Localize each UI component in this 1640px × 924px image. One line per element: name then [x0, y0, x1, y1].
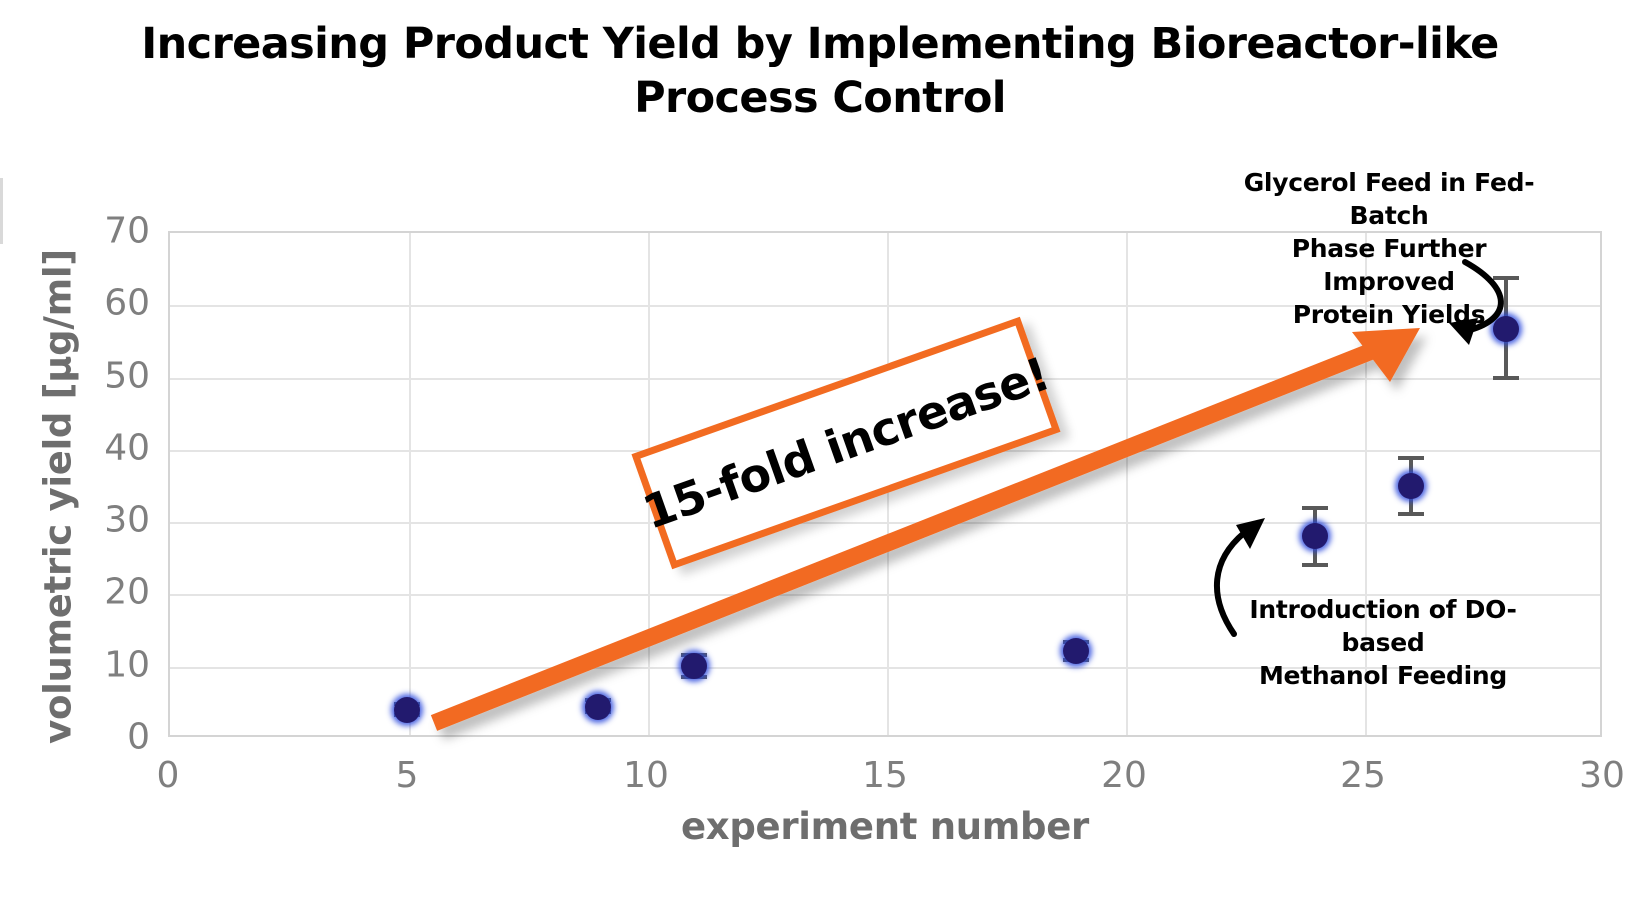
gridline-vertical — [409, 233, 411, 735]
x-tick-label: 5 — [347, 755, 467, 796]
x-tick-label: 15 — [825, 755, 945, 796]
x-tick-label: 25 — [1303, 755, 1423, 796]
x-tick-label: 10 — [586, 755, 706, 796]
x-tick-label: 0 — [108, 755, 228, 796]
gridline-vertical — [1126, 233, 1128, 735]
x-tick-label: 30 — [1542, 755, 1640, 796]
x-tick-label: 20 — [1064, 755, 1184, 796]
x-axis-title: experiment number — [168, 805, 1602, 848]
page-title: Increasing Product Yield by Implementing… — [120, 18, 1520, 126]
gridline-horizontal — [170, 522, 1600, 524]
annotation-glycerol-feed: Glycerol Feed in Fed-Batch Phase Further… — [1232, 166, 1546, 331]
annotation-methanol-feeding: Introduction of DO-based Methanol Feedin… — [1228, 593, 1538, 692]
chart-container-left-rule — [0, 178, 3, 244]
y-axis-title: volumetric yield [µg/ml] — [37, 217, 80, 777]
